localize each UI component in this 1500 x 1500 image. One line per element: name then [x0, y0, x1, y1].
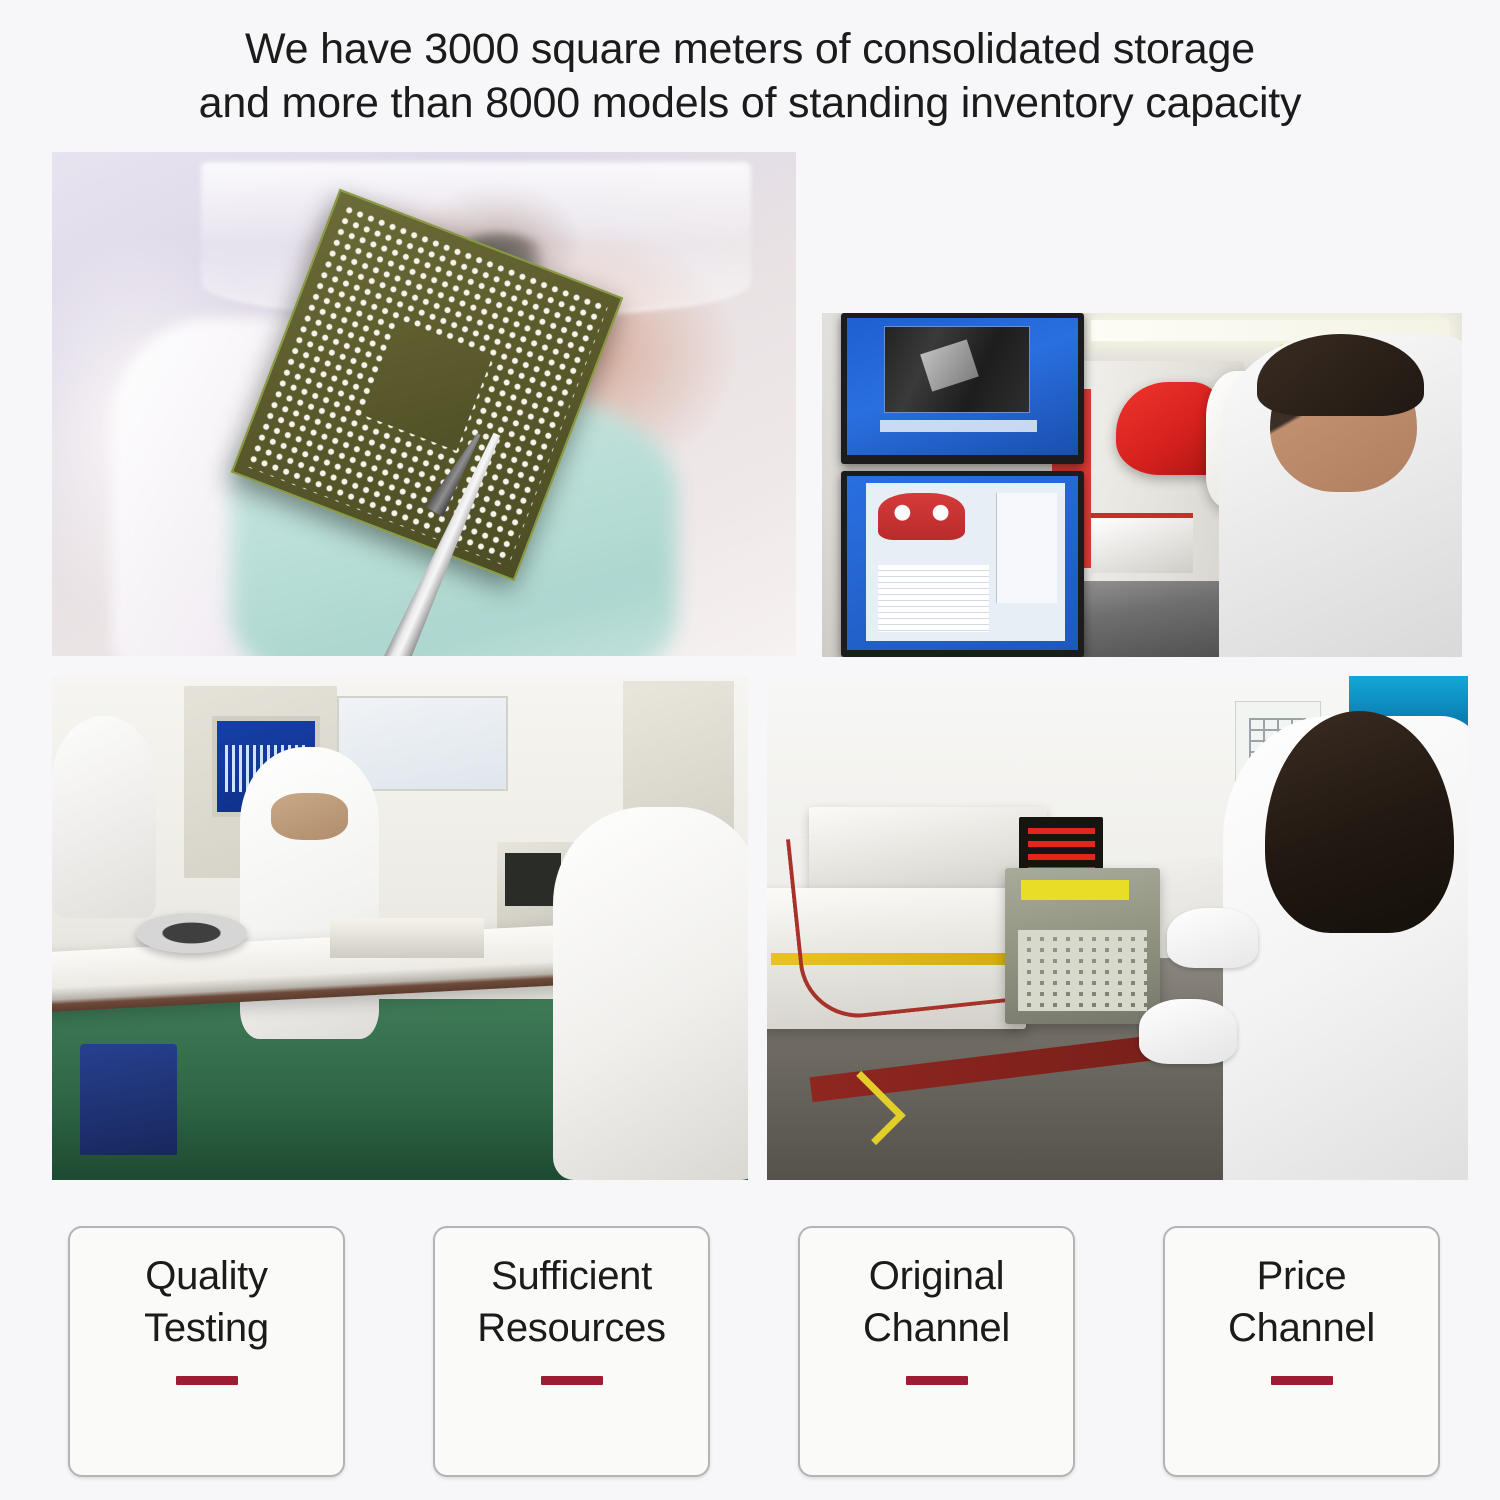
lower-monitor [841, 471, 1084, 657]
photo-microscope-inspection-content [822, 313, 1462, 657]
feature-card-accent-rule [541, 1376, 603, 1385]
red-test-leads [786, 816, 1032, 1024]
feature-card-original-channel[interactable]: Original Channel [798, 1226, 1075, 1477]
measurement-software [866, 483, 1065, 641]
photo-chip-in-tweezers [52, 152, 796, 656]
feature-card-title: Price Channel [1228, 1250, 1375, 1354]
feature-card-title-line-1: Price [1257, 1254, 1347, 1298]
feature-card-accent-rule [1271, 1376, 1333, 1385]
feature-card-title-line-2: Channel [1228, 1302, 1375, 1354]
headline-line-2: and more than 8000 models of standing in… [0, 76, 1500, 130]
feature-card-quality-testing[interactable]: Quality Testing [68, 1226, 345, 1477]
component-trays [330, 918, 483, 958]
cleanroom-worker-background [52, 716, 156, 918]
photo-electrical-test-bench-content [767, 676, 1468, 1180]
microscope-stage [1091, 513, 1193, 573]
signal-generator [1005, 868, 1159, 1024]
photo-chip-in-tweezers-content [52, 152, 796, 656]
feature-card-title-line-1: Quality [145, 1254, 267, 1298]
feature-card-title-line-2: Channel [863, 1302, 1010, 1354]
feature-card-title-line-1: Sufficient [491, 1254, 652, 1298]
gloved-hand-lower [1139, 999, 1237, 1065]
feature-card-title: Sufficient Resources [477, 1250, 666, 1354]
inspection-image [884, 326, 1029, 413]
feature-card-accent-rule [176, 1376, 238, 1385]
headline-line-1: We have 3000 square meters of consolidat… [0, 22, 1500, 76]
photo-cleanroom-assembly-content [52, 676, 748, 1180]
toolbar-strip [880, 420, 1037, 432]
gloved-hand-upper [1167, 908, 1258, 968]
component-reel [136, 913, 247, 953]
photo-electrical-test-bench [767, 676, 1468, 1180]
upper-monitor-screen [847, 318, 1078, 455]
feature-card-row: Quality Testing Sufficient Resources Ori… [68, 1226, 1440, 1477]
data-table [878, 565, 989, 631]
feature-card-title-line-2: Testing [144, 1302, 269, 1354]
graph-pane [996, 493, 1057, 604]
feature-card-title: Quality Testing [144, 1250, 269, 1354]
instrument-label [1021, 880, 1129, 900]
feature-card-title-line-1: Original [869, 1254, 1004, 1298]
feature-card-title: Original Channel [863, 1250, 1010, 1354]
feature-card-title-line-2: Resources [477, 1302, 666, 1354]
photo-microscope-inspection [822, 313, 1462, 657]
page-headline: We have 3000 square meters of consolidat… [0, 22, 1500, 130]
instrument-keypad [1018, 930, 1148, 1011]
feature-card-accent-rule [906, 1376, 968, 1385]
feature-card-price-channel[interactable]: Price Channel [1163, 1226, 1440, 1477]
lower-monitor-screen [847, 476, 1078, 650]
photo-cleanroom-assembly [52, 676, 748, 1180]
cleanroom-worker-foreground [553, 807, 748, 1180]
feature-card-sufficient-resources[interactable]: Sufficient Resources [433, 1226, 710, 1477]
upper-monitor [841, 313, 1084, 464]
blue-stool [80, 1044, 177, 1155]
promo-page: We have 3000 square meters of consolidat… [0, 0, 1500, 1500]
